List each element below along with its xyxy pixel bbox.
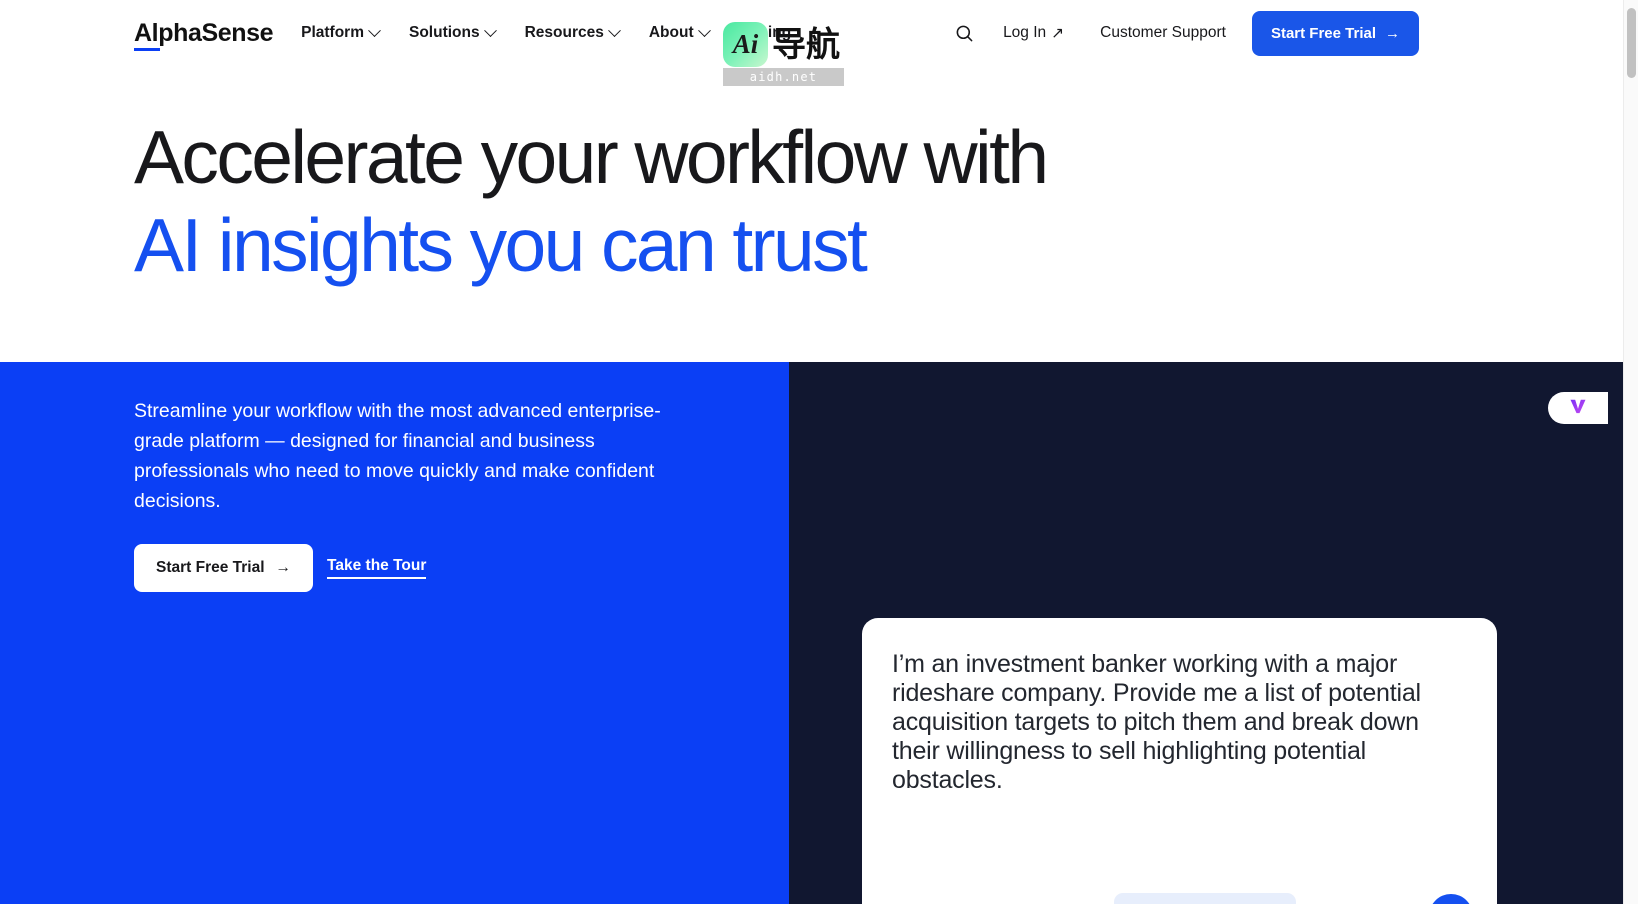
arrow-right-icon: → [1385, 25, 1400, 42]
chat-prompt-text: I’m an investment banker working with a … [862, 618, 1497, 795]
page-root: AlphaSense Platform Solutions Resources … [0, 0, 1623, 904]
alphasense-logo[interactable]: AlphaSense [134, 19, 273, 48]
page-title: Accelerate your workflow with AI insight… [134, 120, 1334, 283]
search-icon[interactable] [947, 16, 981, 50]
hero-line-1: Accelerate your workflow with [134, 115, 1046, 199]
deep-research-chip[interactable]: Deep Research [1114, 893, 1296, 904]
nav-label: Pricing [739, 24, 792, 42]
globe-icon[interactable] [942, 899, 976, 904]
nav-label: Platform [301, 24, 364, 42]
nav-item-resources[interactable]: Resources [525, 24, 619, 42]
promo-panel: Streamline your workflow with the most a… [0, 362, 789, 904]
nav-item-platform[interactable]: Platform [301, 24, 379, 42]
side-widget-tab[interactable] [1548, 392, 1608, 424]
chat-toolbar: All sources Deep Research [862, 874, 1497, 904]
take-the-tour-link[interactable]: Take the Tour [327, 557, 426, 579]
promo-paragraph: Streamline your workflow with the most a… [134, 396, 674, 516]
site-header: AlphaSense Platform Solutions Resources … [0, 0, 1623, 66]
chevron-down-icon [608, 24, 621, 37]
chevron-down-icon [484, 24, 497, 37]
chevron-down-icon [698, 24, 711, 37]
customer-support-link[interactable]: Customer Support [1100, 24, 1226, 42]
watermark-url-bar: aidh.net [723, 68, 844, 86]
hero-line-2: AI insights you can trust [134, 208, 1334, 283]
split-panels: Streamline your workflow with the most a… [0, 362, 1623, 904]
chevron-down-icon [368, 24, 381, 37]
promo-cta-label: Start Free Trial [156, 559, 265, 577]
nav-item-pricing[interactable]: Pricing [739, 24, 792, 42]
vertical-scrollbar[interactable] [1623, 0, 1638, 904]
login-label: Log In [1003, 24, 1046, 42]
nav-label: Resources [525, 24, 604, 42]
logo-text: AlphaSense [134, 19, 273, 47]
chat-prompt-card: I’m an investment banker working with a … [862, 618, 1497, 904]
external-link-arrow-icon: ↗ [1051, 24, 1064, 43]
violet-v-logo-icon [1568, 396, 1588, 421]
logo-underline [134, 48, 160, 51]
plus-icon[interactable] [890, 899, 924, 904]
cta-label: Start Free Trial [1271, 25, 1376, 42]
start-free-trial-button[interactable]: Start Free Trial → [1252, 11, 1419, 56]
promo-actions: Start Free Trial → Take the Tour [134, 544, 426, 592]
nav-label: About [649, 24, 694, 42]
nav-item-about[interactable]: About [649, 24, 709, 42]
scrollbar-thumb[interactable] [1627, 8, 1636, 78]
header-actions: Log In ↗ Customer Support Start Free Tri… [947, 11, 1623, 56]
login-link[interactable]: Log In ↗ [1003, 24, 1064, 43]
arrow-right-icon: → [276, 559, 292, 577]
nav-label: Solutions [409, 24, 480, 42]
hero-section: Accelerate your workflow with AI insight… [134, 120, 1334, 283]
watermark-url-text: aidh.net [750, 70, 817, 84]
showcase-panel: I’m an investment banker working with a … [789, 362, 1623, 904]
promo-start-free-trial-button[interactable]: Start Free Trial → [134, 544, 313, 592]
nav-item-solutions[interactable]: Solutions [409, 24, 495, 42]
send-button[interactable] [1429, 894, 1473, 904]
primary-nav: Platform Solutions Resources About Prici… [301, 24, 791, 42]
